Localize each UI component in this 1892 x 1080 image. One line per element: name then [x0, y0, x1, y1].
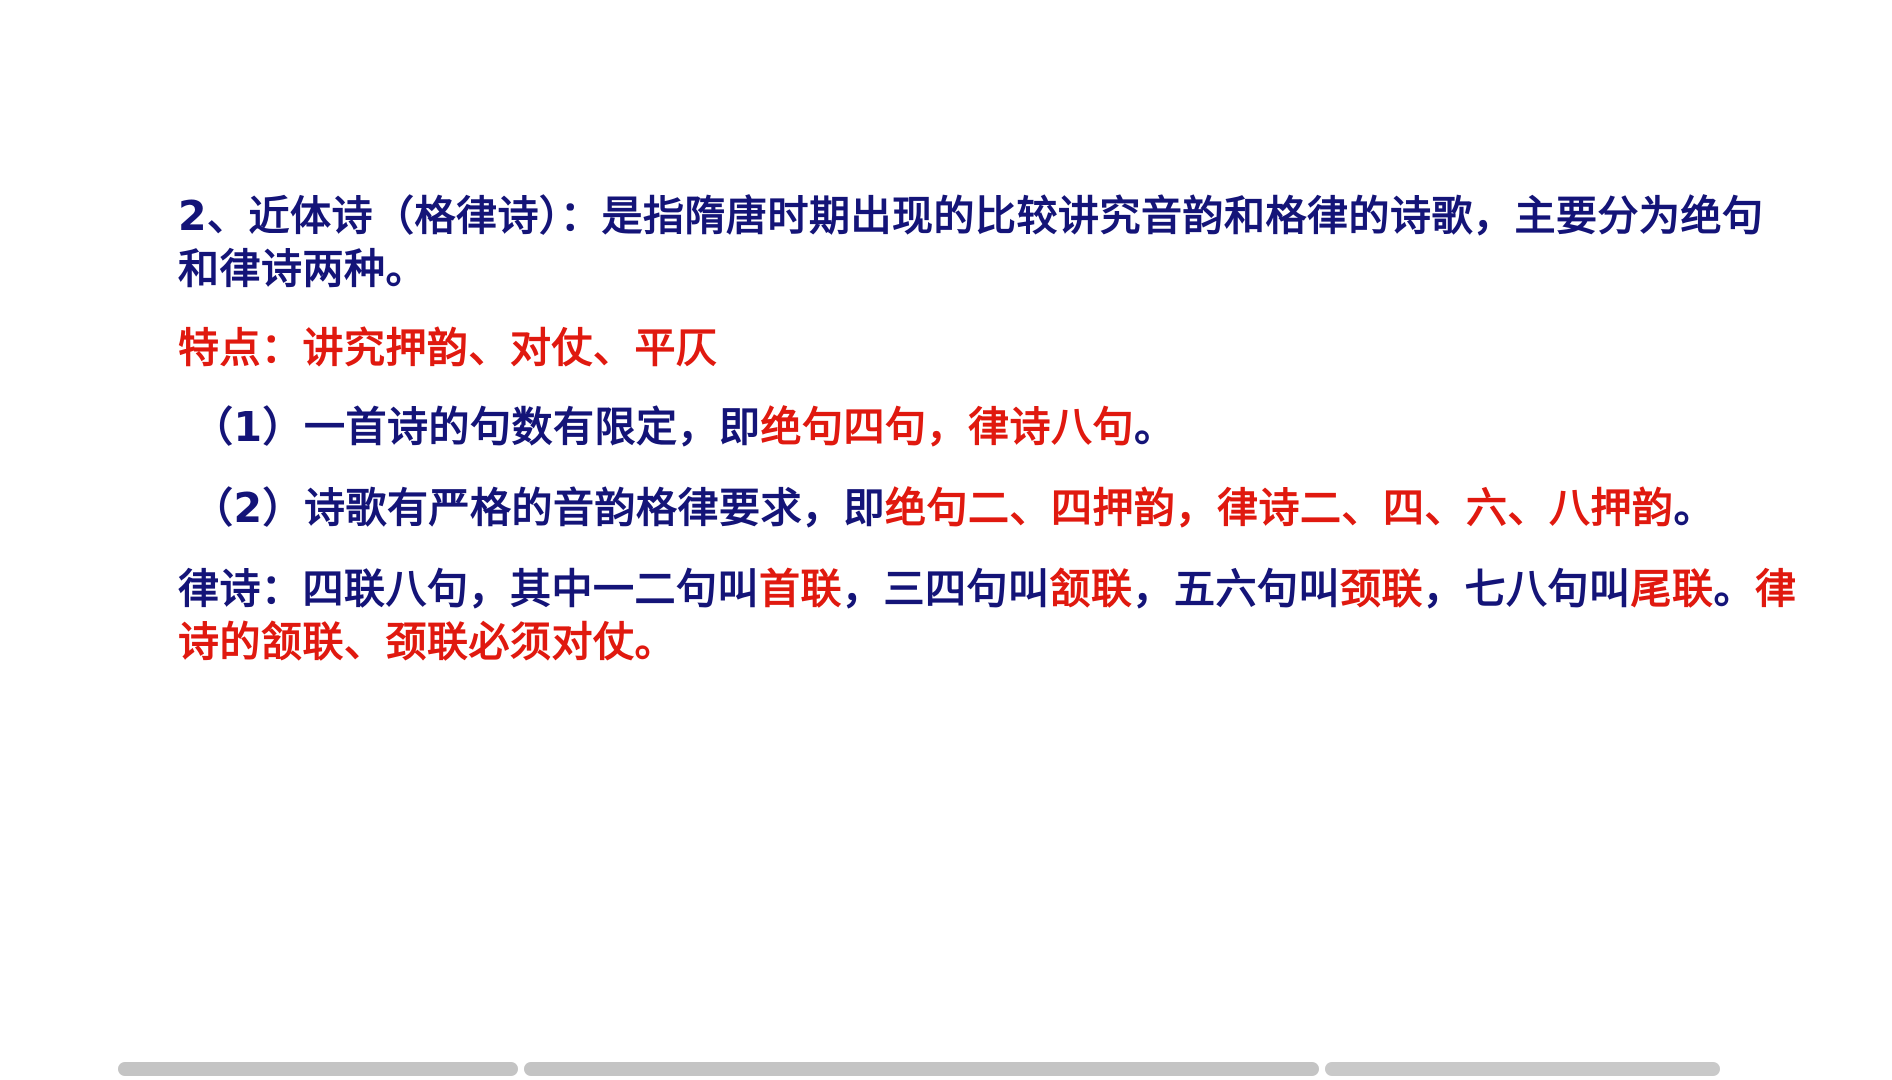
- scroll-strip-center[interactable]: [524, 1062, 1319, 1076]
- scroll-strip-right[interactable]: [1325, 1062, 1720, 1076]
- paragraph-rule-1: （1）一首诗的句数有限定，即绝句四句，律诗八句。: [178, 401, 1798, 454]
- text-run-2: 首联: [759, 565, 842, 613]
- text-run-5: ，五六句叫: [1133, 565, 1341, 613]
- text-run-1: 律诗：四联八句，其中一二句叫: [178, 565, 759, 613]
- text-run-1: （1）一首诗的句数有限定，即: [192, 403, 761, 451]
- text-run-3: 。: [1134, 403, 1176, 451]
- slide-canvas: 2、近体诗（格律诗）：是指隋唐时期出现的比较讲究音韵和格律的诗歌，主要分为绝句和…: [0, 0, 1892, 1080]
- text-run-4: 颔联: [1050, 565, 1133, 613]
- paragraph-rule-2: （2）诗歌有严格的音韵格律要求，即绝句二、四押韵，律诗二、四、六、八押韵。: [178, 482, 1798, 535]
- text-run-1: 特点：讲究押韵、对仗、平仄: [178, 324, 718, 372]
- text-run-3: 。: [1674, 484, 1716, 532]
- text-run-1: （2）诗歌有严格的音韵格律要求，即: [192, 484, 885, 532]
- paragraph-features: 特点：讲究押韵、对仗、平仄: [178, 323, 1798, 373]
- bottom-scroll-area[interactable]: [0, 1052, 1892, 1080]
- text-run-2: 绝句四句，律诗八句: [761, 403, 1135, 451]
- paragraph-lushi-couplets: 律诗：四联八句，其中一二句叫首联，三四句叫颔联，五六句叫颈联，七八句叫尾联。律诗…: [178, 563, 1798, 668]
- text-run-3: ，三四句叫: [842, 565, 1050, 613]
- text-run-1: 2、近体诗（格律诗）：是指隋唐时期出现的比较讲究音韵和格律的诗歌，主要分为绝句和…: [178, 192, 1764, 293]
- text-run-6: 颈联: [1340, 565, 1423, 613]
- text-run-8: 尾联: [1631, 565, 1714, 613]
- scroll-strip-left[interactable]: [118, 1062, 518, 1076]
- text-run-2: 绝句二、四押韵，律诗二、四、六、八押韵: [885, 484, 1674, 532]
- text-run-7: ，七八句叫: [1423, 565, 1631, 613]
- text-run-9: 。: [1714, 565, 1756, 613]
- slide-text-body: 2、近体诗（格律诗）：是指隋唐时期出现的比较讲究音韵和格律的诗歌，主要分为绝句和…: [178, 190, 1798, 668]
- paragraph-near-style-poetry: 2、近体诗（格律诗）：是指隋唐时期出现的比较讲究音韵和格律的诗歌，主要分为绝句和…: [178, 190, 1798, 297]
